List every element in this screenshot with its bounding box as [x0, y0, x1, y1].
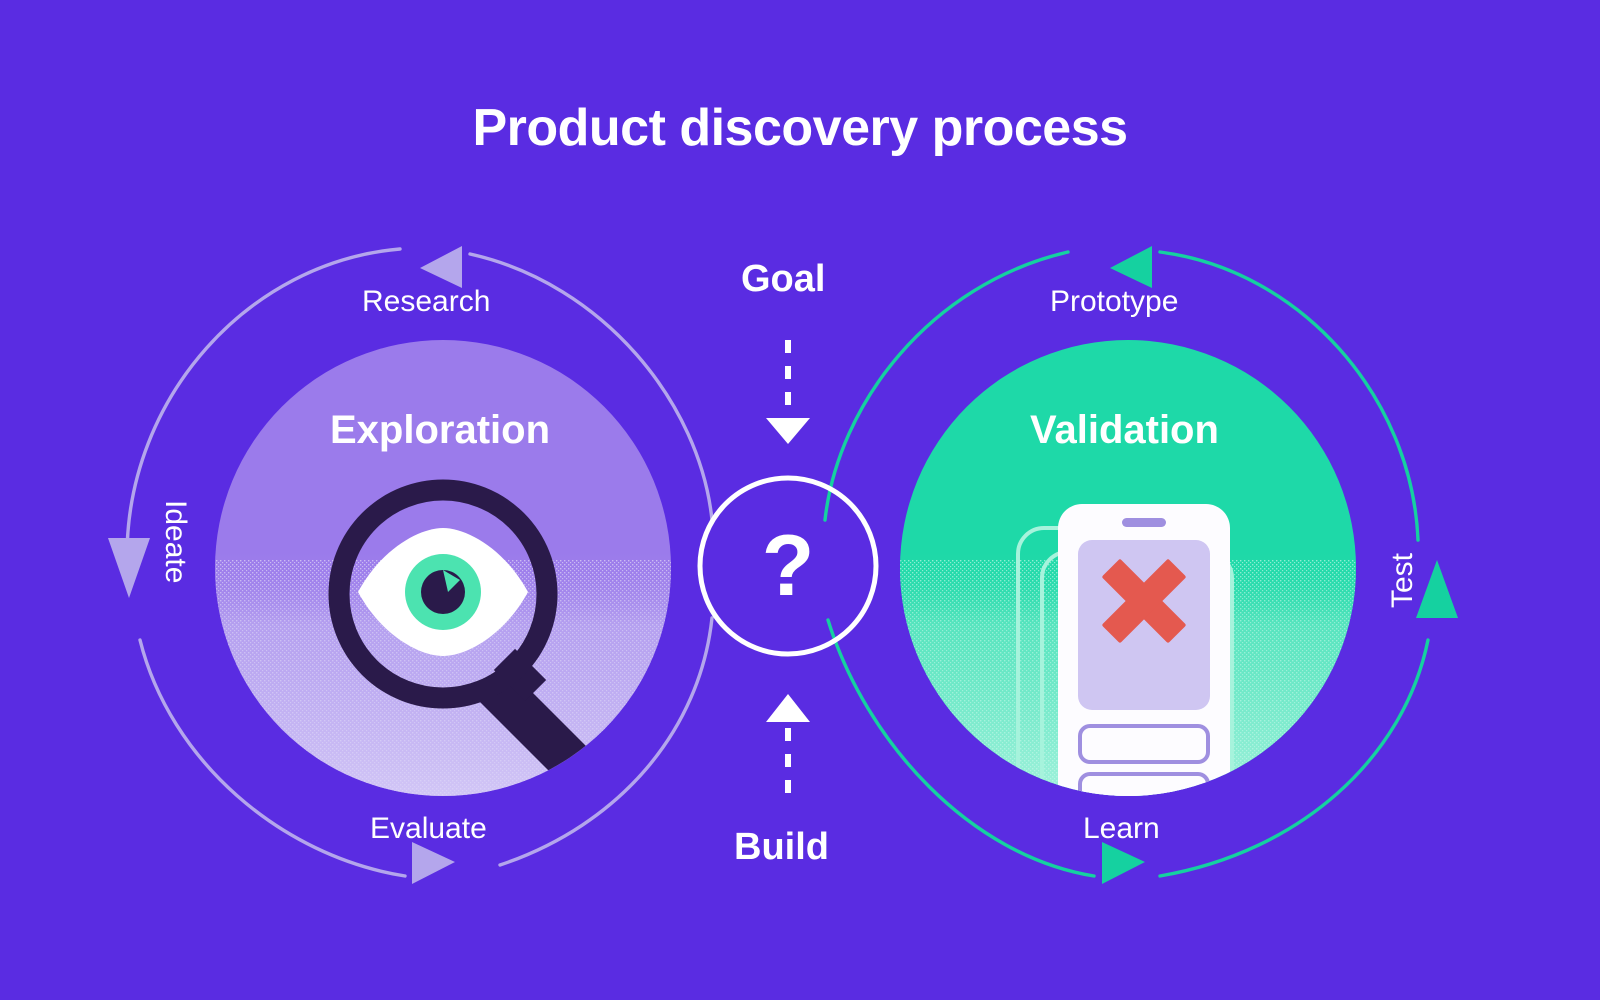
step-label-ideate: Ideate — [158, 500, 192, 583]
step-label-prototype: Prototype — [1050, 285, 1178, 319]
ideate-arrowhead — [108, 538, 150, 598]
build-arrowhead — [766, 694, 810, 722]
step-label-test: Test — [1386, 553, 1420, 608]
goal-connector — [766, 340, 810, 444]
build-connector — [766, 694, 810, 806]
validation-label: Validation — [1030, 408, 1219, 453]
step-label-learn: Learn — [1083, 812, 1160, 846]
step-label-evaluate: Evaluate — [370, 812, 487, 846]
question-mark-symbol: ? — [700, 478, 876, 654]
research-arrowhead — [420, 246, 462, 288]
build-label: Build — [734, 826, 829, 869]
learn-arrowhead — [1102, 842, 1145, 884]
test-arrowhead — [1416, 560, 1458, 618]
evaluate-arrowhead — [412, 842, 455, 884]
prototype-arrowhead — [1110, 246, 1152, 288]
step-label-research: Research — [362, 285, 490, 319]
goal-arrowhead — [766, 418, 810, 444]
diagram-canvas: Product discovery process — [0, 0, 1600, 1000]
goal-label: Goal — [741, 258, 825, 301]
exploration-label: Exploration — [330, 408, 550, 453]
